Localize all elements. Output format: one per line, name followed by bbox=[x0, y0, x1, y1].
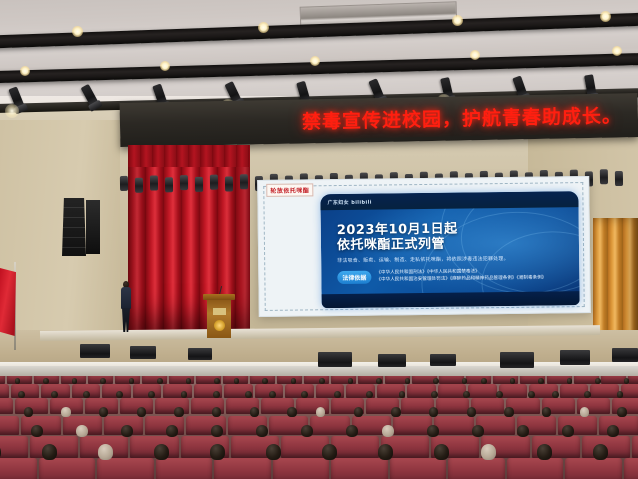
audience-head bbox=[24, 407, 33, 417]
audience-head bbox=[322, 444, 337, 460]
auditorium-photo: 禁毒宣传进校园，护航青春助成长。 轮放依托咪酯 广东妇女 bilibili 20… bbox=[0, 0, 638, 479]
auditorium-seat bbox=[624, 458, 638, 479]
auditorium-seat bbox=[436, 398, 469, 414]
auditorium-seat bbox=[331, 458, 388, 479]
slide-header-bar: 广东妇女 bilibili bbox=[320, 191, 578, 210]
auditorium-seat bbox=[565, 458, 622, 479]
audience-head bbox=[99, 407, 108, 417]
stage-monitor bbox=[560, 350, 590, 365]
auditorium-seat bbox=[0, 398, 13, 414]
audience-head bbox=[129, 378, 135, 384]
audience-head bbox=[72, 378, 78, 384]
auditorium-seat bbox=[601, 376, 626, 384]
auditorium-seat bbox=[133, 384, 162, 398]
audience-head bbox=[334, 391, 341, 398]
auditorium-seat bbox=[285, 384, 314, 398]
audience-head bbox=[210, 444, 225, 460]
auditorium-seat bbox=[0, 376, 5, 384]
stage-monitor bbox=[130, 346, 156, 359]
stage-light-fixture bbox=[240, 174, 248, 189]
audience-head bbox=[382, 425, 394, 437]
ceiling-downlight bbox=[72, 26, 83, 37]
audience-head bbox=[538, 378, 544, 384]
presentation-slide: 广东妇女 bilibili 2023年10月1日起 依托咪酯正式列管 非法吸食、… bbox=[320, 191, 579, 308]
auditorium-seat bbox=[621, 384, 638, 398]
auditorium-seat bbox=[466, 376, 491, 384]
seat-row bbox=[0, 384, 638, 398]
audience-head bbox=[83, 391, 90, 398]
audience-head bbox=[269, 391, 276, 398]
podium-emblem bbox=[214, 320, 225, 331]
red-flag bbox=[0, 268, 16, 336]
auditorium-seat bbox=[155, 398, 188, 414]
audience-head bbox=[496, 391, 503, 398]
audience-head bbox=[481, 444, 496, 460]
led-banner-text: 禁毒宣传进校园，护航青春助成长。 bbox=[302, 101, 622, 134]
slide-title-line-2: 依托咪酯正式列管 bbox=[337, 236, 569, 253]
audience-head bbox=[76, 425, 88, 437]
audience-head bbox=[212, 407, 221, 417]
audience-head bbox=[61, 407, 70, 417]
auditorium-seat bbox=[471, 398, 504, 414]
audience-head bbox=[429, 407, 438, 417]
ceiling-downlight bbox=[20, 66, 30, 76]
audience-head bbox=[166, 425, 178, 437]
stage-monitor bbox=[612, 348, 638, 362]
audience-head bbox=[593, 444, 608, 460]
presenter-legs bbox=[122, 308, 130, 332]
audience-head bbox=[481, 378, 487, 384]
audience-head bbox=[584, 391, 591, 398]
stage-monitor bbox=[500, 352, 534, 368]
audience-head bbox=[624, 378, 630, 384]
stage-light-fixture bbox=[165, 177, 173, 192]
audience-head bbox=[537, 444, 552, 460]
podium bbox=[206, 294, 232, 338]
ceiling-downlight bbox=[600, 11, 611, 22]
audience-head bbox=[462, 378, 468, 384]
slide-legal-basis: 法律依据 《中华人民共和国刑法》《中华人民共和国禁毒法》 《中华人民共和国治安管… bbox=[337, 268, 569, 285]
audience-head bbox=[562, 425, 574, 437]
auditorium-seat bbox=[0, 436, 28, 458]
audience-head bbox=[431, 391, 438, 398]
line-array-speaker-left bbox=[62, 198, 86, 256]
stage-light-fixture bbox=[600, 169, 608, 184]
audience-head bbox=[100, 378, 106, 384]
audience-head bbox=[234, 378, 240, 384]
audience-head bbox=[42, 444, 57, 460]
stage-light-fixture bbox=[210, 175, 218, 190]
audience-head bbox=[316, 407, 325, 417]
presenter-torso bbox=[121, 287, 131, 309]
auditorium-seat bbox=[434, 416, 473, 435]
audience-head bbox=[391, 407, 400, 417]
projection-screen: 轮放依托咪酯 广东妇女 bilibili 2023年10月1日起 依托咪酯正式列… bbox=[257, 176, 591, 317]
stage-monitor bbox=[188, 348, 212, 360]
stage-monitor bbox=[80, 344, 110, 358]
auditorium-seat bbox=[507, 458, 564, 479]
audience-head bbox=[262, 378, 268, 384]
auditorium-seat bbox=[499, 384, 528, 398]
audience-head bbox=[567, 378, 573, 384]
audience-head bbox=[467, 407, 476, 417]
audience-head bbox=[148, 391, 155, 398]
audience-head bbox=[433, 378, 439, 384]
auditorium-seat bbox=[448, 458, 505, 479]
stage-light-fixture bbox=[135, 178, 143, 193]
slide-body: 2023年10月1日起 依托咪酯正式列管 非法吸食、贩卖、运输、制造、走私依托咪… bbox=[337, 221, 570, 285]
audience-head bbox=[157, 378, 163, 384]
audience-head bbox=[434, 444, 449, 460]
audience-head bbox=[542, 407, 551, 417]
auditorium-seat bbox=[628, 376, 638, 384]
audience-head bbox=[427, 425, 439, 437]
audience-head bbox=[354, 407, 363, 417]
auditorium-seat bbox=[163, 384, 192, 398]
auditorium-seat bbox=[142, 376, 167, 384]
audience-head bbox=[287, 407, 296, 417]
auditorium-seat bbox=[0, 384, 9, 398]
auditorium-seat bbox=[304, 376, 329, 384]
audience-head bbox=[510, 378, 516, 384]
seat-row bbox=[0, 458, 638, 479]
audience-head bbox=[250, 407, 259, 417]
auditorium-seat bbox=[39, 458, 96, 479]
stage-light-fixture bbox=[225, 176, 233, 191]
audience-head bbox=[552, 391, 559, 398]
audience-head bbox=[595, 378, 601, 384]
auditorium-seat bbox=[439, 376, 464, 384]
auditorium-seat bbox=[0, 416, 19, 435]
auditorium-seat bbox=[145, 416, 184, 435]
auditorium-seat bbox=[438, 384, 467, 398]
seat-row bbox=[0, 416, 638, 435]
stage-light-fixture bbox=[180, 175, 188, 190]
audience-head bbox=[504, 407, 513, 417]
audience-head bbox=[617, 407, 626, 417]
auditorium-seat bbox=[632, 436, 638, 458]
podium-plate bbox=[213, 308, 226, 315]
spotlight-glow bbox=[5, 104, 19, 118]
auditorium-seat bbox=[390, 458, 447, 479]
screen-corner-tag: 轮放依托咪酯 bbox=[266, 183, 313, 197]
slide-subtitle: 非法吸食、贩卖、运输、制造、走私依托咪酯，将依照涉毒违法犯罪处理。 bbox=[337, 254, 569, 264]
ceiling-downlight bbox=[470, 50, 480, 60]
line-array-speaker-right bbox=[86, 200, 100, 254]
auditorium-seat bbox=[277, 376, 302, 384]
audience-head bbox=[348, 378, 354, 384]
auditorium-seat bbox=[0, 458, 37, 479]
stage-light-fixture bbox=[120, 176, 128, 191]
ceiling-downlight bbox=[612, 46, 622, 56]
stage-light-fixture bbox=[615, 171, 623, 186]
audience-head bbox=[378, 444, 393, 460]
audience-head bbox=[43, 378, 49, 384]
audience-head bbox=[528, 391, 535, 398]
audience-head bbox=[405, 378, 411, 384]
audience-head bbox=[346, 425, 358, 437]
auditorium-seat bbox=[273, 458, 330, 479]
slide-logo-text: 广东妇女 bilibili bbox=[327, 198, 371, 206]
auditorium-seat bbox=[310, 416, 349, 435]
auditorium-seat bbox=[331, 436, 379, 458]
auditorium-seat bbox=[599, 416, 638, 435]
auditorium-seat bbox=[590, 384, 619, 398]
stage-monitor bbox=[430, 354, 456, 366]
audience-head bbox=[301, 425, 313, 437]
audience-head bbox=[137, 407, 146, 417]
audience-head bbox=[607, 425, 619, 437]
legal-basis-list: 《中华人民共和国刑法》《中华人民共和国禁毒法》 《中华人民共和国治安管理处罚法》… bbox=[376, 269, 546, 285]
audience-head bbox=[580, 407, 589, 417]
ceiling-downlight bbox=[258, 22, 269, 33]
auditorium-seat bbox=[115, 376, 140, 384]
ceiling-downlight bbox=[310, 56, 320, 66]
auditorium-seat bbox=[156, 458, 213, 479]
audience-head bbox=[211, 425, 223, 437]
ceiling-downlight bbox=[160, 61, 170, 71]
auditorium-seat bbox=[97, 458, 154, 479]
red-curtain-valance bbox=[128, 145, 250, 167]
audience-head bbox=[301, 391, 308, 398]
audience-head bbox=[376, 378, 382, 384]
presenter-figure bbox=[118, 281, 134, 333]
audience-head bbox=[31, 425, 43, 437]
legal-basis-badge: 法律依据 bbox=[337, 271, 371, 284]
stage-light-fixture bbox=[195, 177, 203, 192]
audience-head bbox=[213, 391, 220, 398]
audience-head bbox=[154, 444, 169, 460]
audience-head bbox=[319, 378, 325, 384]
audience-head bbox=[256, 425, 268, 437]
audience-head bbox=[366, 391, 373, 398]
audience-head bbox=[186, 378, 192, 384]
audience-head bbox=[214, 378, 220, 384]
audience-head bbox=[517, 425, 529, 437]
stage-monitor bbox=[318, 352, 352, 367]
podium-body bbox=[207, 300, 231, 338]
audience-head bbox=[121, 425, 133, 437]
audience-head bbox=[472, 425, 484, 437]
audience-head bbox=[174, 407, 183, 417]
audience-head bbox=[291, 378, 297, 384]
auditorium-seat bbox=[468, 384, 497, 398]
audience-head bbox=[266, 444, 281, 460]
auditorium-seat bbox=[214, 458, 271, 479]
audience-head bbox=[98, 444, 113, 460]
stage-light-fixture bbox=[150, 175, 158, 190]
audience-head bbox=[51, 391, 58, 398]
audience-head bbox=[15, 378, 21, 384]
audience-head bbox=[116, 391, 123, 398]
stage-monitor bbox=[378, 354, 406, 367]
audience-area bbox=[0, 376, 638, 479]
ceiling-downlight bbox=[452, 15, 463, 26]
